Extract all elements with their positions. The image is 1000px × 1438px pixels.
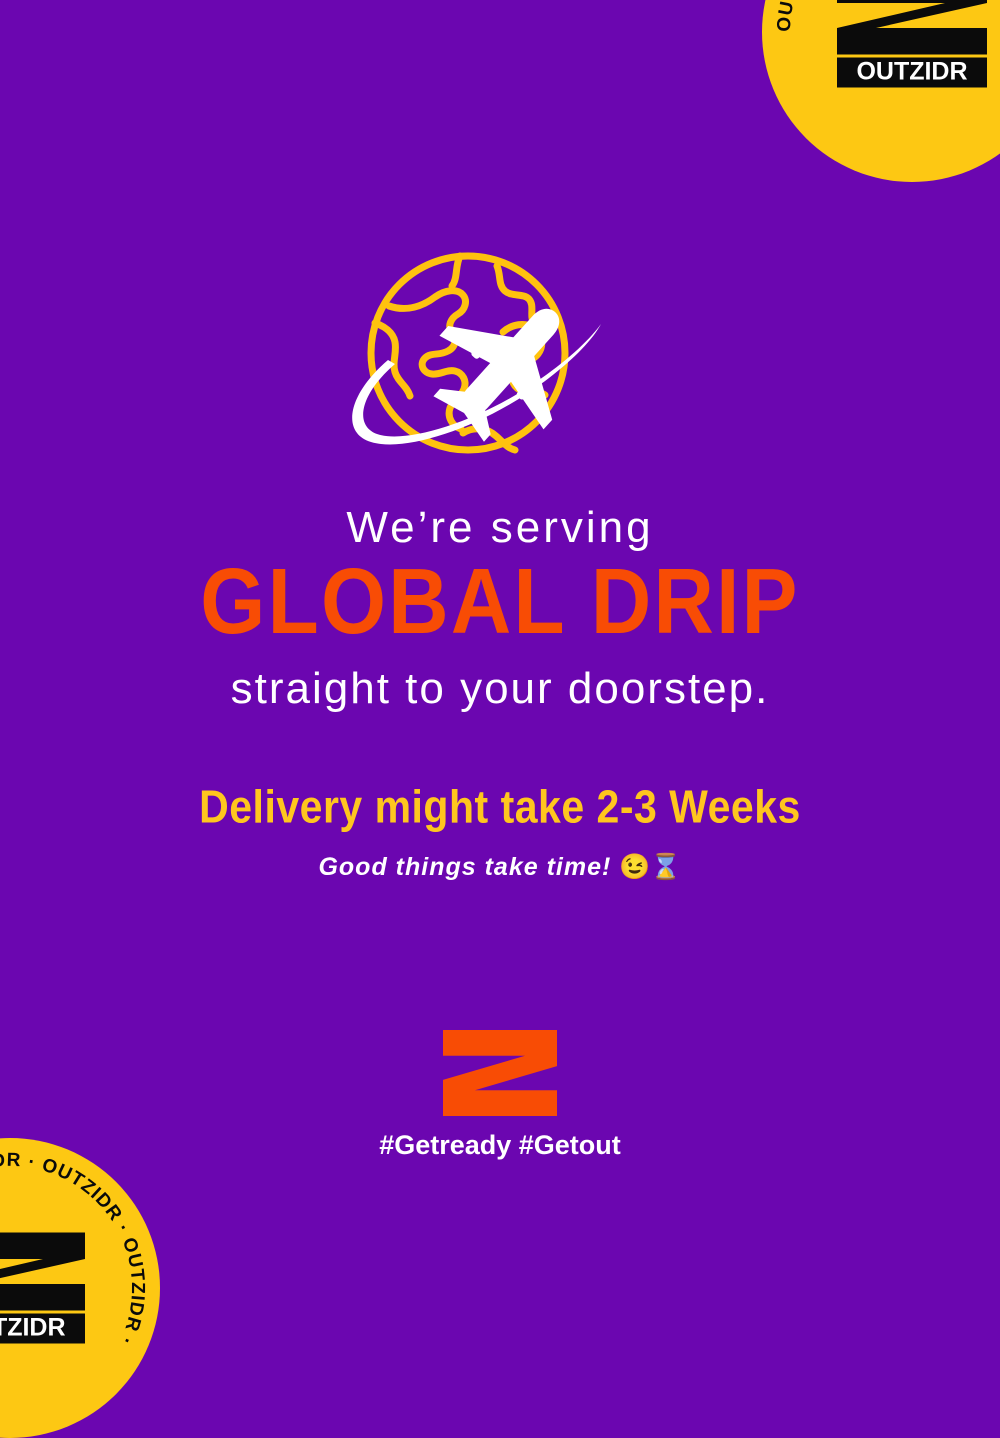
z-logo-icon bbox=[0, 1233, 85, 1311]
subhead-text: straight to your doorstep. bbox=[0, 666, 1000, 712]
globe-airplane-graphic bbox=[335, 248, 665, 468]
message-block: We’re serving GLOBAL DRIP straight to yo… bbox=[0, 505, 1000, 882]
eyebrow-text: We’re serving bbox=[0, 505, 1000, 551]
poster-canvas: { "theme": { "background": "#6B06B0", "o… bbox=[0, 0, 1000, 1333]
hero-illustration bbox=[0, 248, 1000, 468]
wink-hourglass-emoji: 😉⌛ bbox=[619, 853, 681, 881]
badge-center-mark-bottom-left: OUTZIDR bbox=[0, 1233, 85, 1344]
brand-badge-bottom-left: OUTZIDR · OUTZIDR · OUTZIDR · OUTZIDR · … bbox=[0, 1138, 160, 1438]
hashtags-text: #Getready #Getout bbox=[0, 1130, 1000, 1161]
z-logo-icon bbox=[443, 1030, 557, 1116]
headline-text: GLOBAL DRIP bbox=[0, 551, 1000, 655]
badge-wordmark: OUTZIDR bbox=[0, 1314, 85, 1344]
reassurance-line: Good things take time! 😉⌛ bbox=[0, 853, 1000, 882]
badge-wordmark: OUTZIDR bbox=[837, 58, 987, 88]
z-logo-icon bbox=[837, 0, 987, 55]
delivery-note-text: Delivery might take 2-3 Weeks bbox=[0, 781, 1000, 834]
reassurance-text: Good things take time! bbox=[318, 853, 611, 881]
brand-badge-top-right: OUTZIDR · OUTZIDR · OUTZIDR · OUTZIDR · … bbox=[762, 0, 1000, 182]
badge-center-mark-top-right: OUTZIDR bbox=[837, 0, 987, 88]
footer-block: #Getready #Getout bbox=[0, 1030, 1000, 1161]
